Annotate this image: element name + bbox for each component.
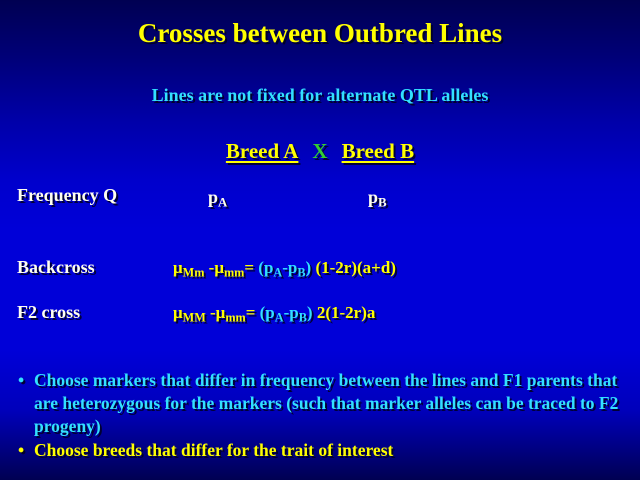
frequency-value-breed-b: pB — [368, 188, 387, 210]
frequency-row-label: Frequency Q — [17, 186, 117, 204]
backcross-freq-a-subscript: A — [273, 265, 282, 279]
f2cross-formula: μMM -μmm= (pA-pB) 2(1-2r)a — [173, 304, 375, 324]
bullet-dot-icon: • — [18, 439, 24, 462]
breed-b-label: Breed B — [342, 139, 415, 163]
f2cross-mu2: μ — [216, 303, 226, 322]
frequency-b-subscript: B — [378, 195, 387, 210]
f2cross-minus: - — [206, 303, 216, 322]
f2cross-tail: 2(1-2r)a — [313, 303, 376, 322]
frequency-a-symbol: p — [208, 187, 218, 207]
f2cross-freq-b-subscript: B — [299, 310, 307, 324]
backcross-mu2-subscript: mm — [224, 265, 244, 279]
f2cross-mu1-subscript: MM — [183, 310, 206, 324]
frequency-b-symbol: p — [368, 187, 378, 207]
list-item: •Choose markers that differ in frequency… — [14, 369, 630, 438]
breed-a-label: Breed A — [226, 139, 299, 163]
backcross-equals: = — [244, 258, 258, 277]
backcross-formula: μMm -μmm= (pA-pB) (1-2r)(a+d) — [173, 259, 396, 279]
backcross-freq-open: (p — [258, 258, 273, 277]
backcross-mu1: μ — [173, 258, 183, 277]
backcross-mu1-subscript: Mm — [183, 265, 205, 279]
backcross-minus: - — [204, 258, 214, 277]
backcross-row-label: Backcross — [17, 258, 95, 276]
bullet-text: Choose markers that differ in frequency … — [34, 370, 618, 436]
frequency-value-breed-a: pA — [208, 188, 227, 210]
f2cross-freq-open: (p — [260, 303, 275, 322]
backcross-freq-b-subscript: B — [297, 265, 305, 279]
list-item: •Choose breeds that differ for the trait… — [14, 439, 630, 462]
cross-symbol: X — [298, 139, 341, 163]
cross-row: Breed AXBreed B — [0, 141, 640, 162]
slide-subtitle: Lines are not fixed for alternate QTL al… — [0, 86, 640, 104]
f2cross-mu2-subscript: mm — [225, 310, 245, 324]
f2cross-freq-a-subscript: A — [275, 310, 284, 324]
frequency-a-subscript: A — [218, 195, 227, 210]
bullet-dot-icon: • — [18, 369, 24, 392]
slide-title: Crosses between Outbred Lines — [0, 20, 640, 47]
bullet-list: •Choose markers that differ in frequency… — [14, 369, 630, 462]
f2cross-freq-dash: -p — [284, 303, 299, 322]
backcross-tail: (1-2r)(a+d) — [311, 258, 396, 277]
slide-canvas: Crosses between Outbred Lines Lines are … — [0, 0, 640, 480]
f2cross-row-label: F2 cross — [17, 303, 80, 321]
f2cross-equals: = — [246, 303, 260, 322]
backcross-mu2: μ — [214, 258, 224, 277]
bullet-text: Choose breeds that differ for the trait … — [34, 440, 393, 460]
backcross-freq-dash: -p — [282, 258, 297, 277]
f2cross-mu1: μ — [173, 303, 183, 322]
